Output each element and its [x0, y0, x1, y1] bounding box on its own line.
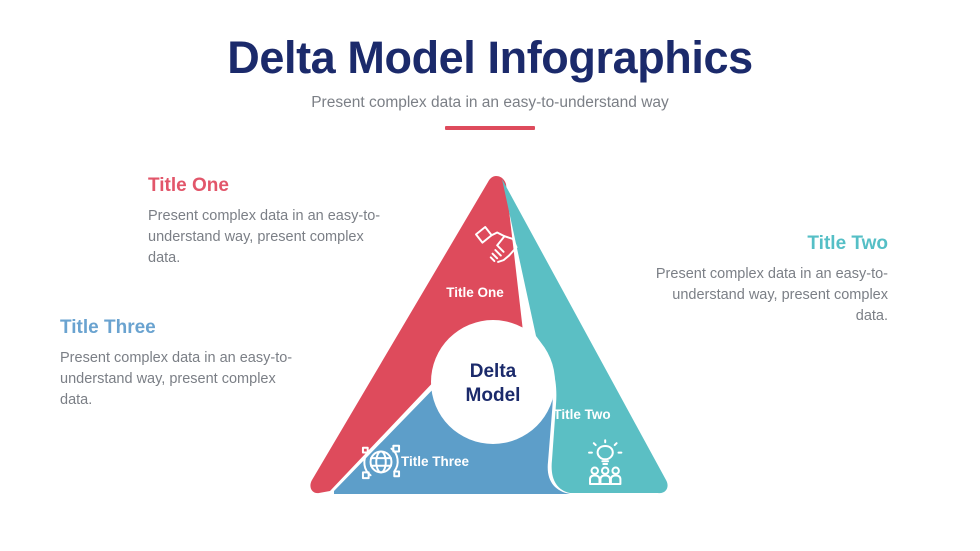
center-circle [431, 320, 555, 444]
segment-label-three: Title Three [401, 454, 470, 469]
accent-divider [445, 126, 535, 130]
segment-label-one: Title One [446, 285, 504, 300]
header: Delta Model Infographics Present complex… [0, 34, 980, 112]
caption-body-three: Present complex data in an easy-to-under… [60, 348, 302, 411]
page-subtitle: Present complex data in an easy-to-under… [0, 94, 980, 113]
caption-title-three: Title Three [60, 318, 302, 339]
center-label-line1: Delta [470, 361, 517, 382]
segment-label-two: Title Two [553, 407, 610, 422]
slide-canvas: Delta Model Infographics Present complex… [0, 0, 980, 551]
delta-triangle-diagram: Delta Model Title One Title Two Title Th… [290, 160, 690, 510]
center-label-line2: Model [466, 385, 521, 406]
page-title: Delta Model Infographics [0, 34, 980, 83]
caption-block-three: Title Three Present complex data in an e… [60, 318, 302, 411]
